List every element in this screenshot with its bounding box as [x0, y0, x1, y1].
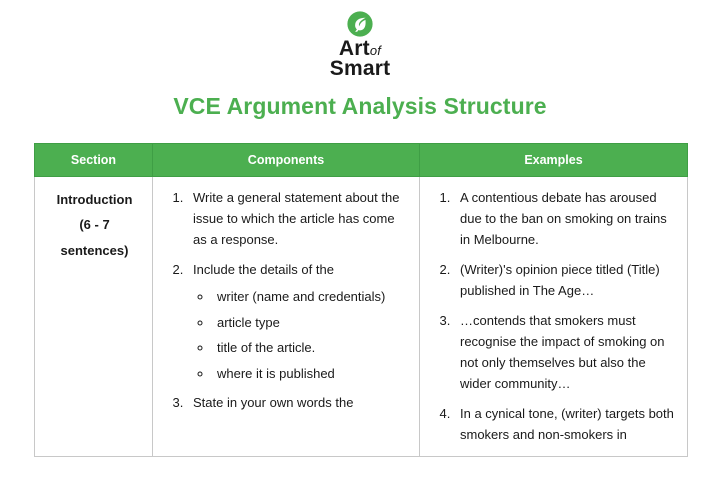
list-item: A contentious debate has aroused due to …: [454, 187, 679, 250]
section-cell-introduction: Introduction (6 - 7 sentences): [35, 177, 153, 457]
column-header-section: Section: [35, 144, 153, 177]
list-item: writer (name and credentials): [213, 287, 411, 307]
list-item: In a cynical tone, (writer) targets both…: [454, 403, 679, 445]
list-item: title of the article.: [213, 338, 411, 358]
components-cell: Write a general statement about the issu…: [153, 177, 420, 457]
list-item: Include the details of the writer (name …: [187, 259, 411, 383]
page-root: Artof Smart VCE Argument Analysis Struct…: [0, 0, 720, 492]
list-item: …contends that smokers must recognise th…: [454, 310, 679, 394]
brand-logo: Artof Smart: [0, 0, 720, 79]
section-name: Introduction: [45, 187, 144, 212]
component-text: Write a general statement about the issu…: [193, 190, 399, 247]
list-item: State in your own words the: [187, 392, 411, 413]
list-item: Write a general statement about the issu…: [187, 187, 411, 250]
section-length-line2: sentences): [45, 238, 144, 263]
components-list: Write a general statement about the issu…: [163, 187, 411, 413]
component-sublist: writer (name and credentials) article ty…: [193, 287, 411, 383]
section-length-line1: (6 - 7: [45, 212, 144, 237]
examples-cell: A contentious debate has aroused due to …: [420, 177, 688, 457]
list-item: (Writer)'s opinion piece titled (Title) …: [454, 259, 679, 301]
logo-text-of: of: [370, 43, 381, 58]
structure-table-container: Section Components Examples Introduction…: [34, 143, 687, 457]
logo-text-smart: Smart: [0, 59, 720, 79]
component-text: Include the details of the: [193, 262, 334, 277]
table-header-row: Section Components Examples: [35, 144, 688, 177]
component-text: State in your own words the: [193, 395, 353, 410]
table-row: Introduction (6 - 7 sentences) Write a g…: [35, 177, 688, 457]
page-title: VCE Argument Analysis Structure: [0, 93, 720, 120]
list-item: where it is published: [213, 364, 411, 384]
logo-wordmark: Artof Smart: [0, 39, 720, 79]
column-header-examples: Examples: [420, 144, 688, 177]
list-item: article type: [213, 313, 411, 333]
column-header-components: Components: [153, 144, 420, 177]
structure-table: Section Components Examples Introduction…: [34, 143, 688, 457]
leaf-icon: [346, 10, 374, 38]
examples-list: A contentious debate has aroused due to …: [430, 187, 679, 446]
